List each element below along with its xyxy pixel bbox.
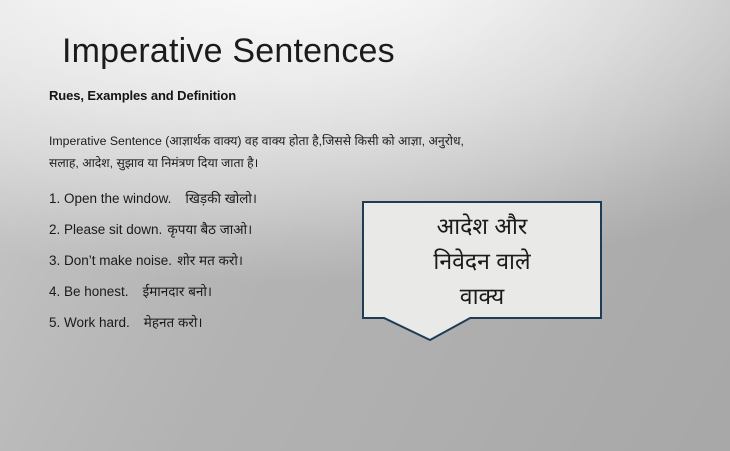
callout-line-3: वाक्य bbox=[460, 279, 504, 314]
example-hindi: खिड़की खोलो। bbox=[171, 191, 257, 206]
list-item: 4. Be honest.ईमानदार बनो। bbox=[49, 283, 369, 314]
callout-box: आदेश और निवेदन वाले वाक्य bbox=[362, 201, 602, 319]
definition-line-2: सलाह, आदेश, सुझाव या निमंत्रण दिया जाता … bbox=[49, 152, 549, 174]
callout-line-2: निवेदन वाले bbox=[433, 244, 530, 279]
page-title: Imperative Sentences bbox=[62, 34, 395, 70]
examples-list: 1. Open the window.खिड़की खोलो। 2. Pleas… bbox=[49, 190, 369, 345]
callout-tail-pointer bbox=[382, 317, 472, 341]
example-english: 4. Be honest. bbox=[49, 284, 129, 299]
page-subtitle: Rues, Examples and Definition bbox=[49, 88, 236, 103]
example-english: 1. Open the window. bbox=[49, 191, 171, 206]
list-item: 1. Open the window.खिड़की खोलो। bbox=[49, 190, 369, 221]
example-english: 3. Don’t make noise. bbox=[49, 253, 172, 268]
slide-content: Imperative Sentences Rues, Examples and … bbox=[0, 0, 730, 451]
slide-canvas: Imperative Sentences Rues, Examples and … bbox=[0, 0, 730, 451]
example-hindi: कृपया बैठ जाओ। bbox=[162, 222, 252, 237]
example-english: 2. Please sit down. bbox=[49, 222, 162, 237]
example-hindi: ईमानदार बनो। bbox=[129, 284, 212, 299]
definition-paragraph: Imperative Sentence (आज्ञार्थक वाक्य) वह… bbox=[49, 130, 549, 174]
definition-line-1: Imperative Sentence (आज्ञार्थक वाक्य) वह… bbox=[49, 130, 549, 152]
example-hindi: शोर मत करो। bbox=[172, 253, 243, 268]
list-item: 2. Please sit down.कृपया बैठ जाओ। bbox=[49, 221, 369, 252]
list-item: 3. Don’t make noise.शोर मत करो। bbox=[49, 252, 369, 283]
callout-line-1: आदेश और bbox=[437, 209, 528, 244]
example-hindi: मेहनत करो। bbox=[130, 315, 203, 330]
list-item: 5. Work hard.मेहनत करो। bbox=[49, 314, 369, 345]
example-english: 5. Work hard. bbox=[49, 315, 130, 330]
